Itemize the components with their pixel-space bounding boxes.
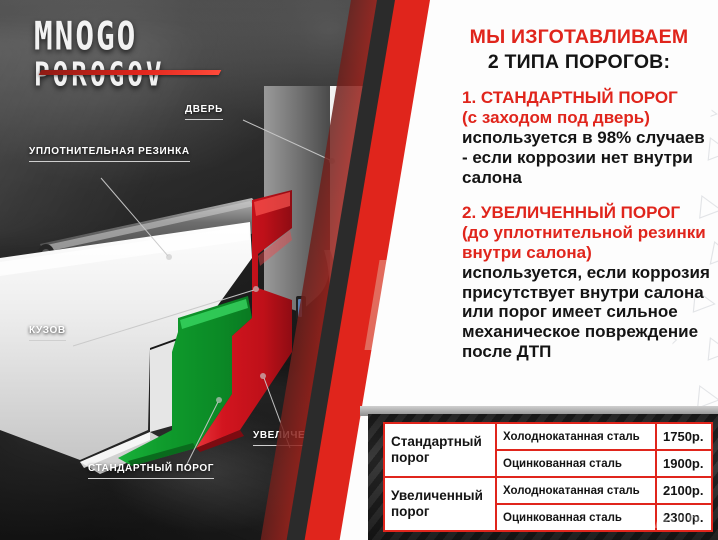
price-table: Стандартный порог Холоднокатанная сталь … <box>383 422 713 532</box>
price-value: 1900р. <box>656 450 712 477</box>
brand-logo-underline <box>39 70 222 75</box>
advertisement-image: ДВЕРЬ УПЛОТНИТЕЛЬНАЯ РЕЗИНКА КУЗОВ СТАНД… <box>0 0 718 540</box>
table-row: Стандартный порог Холоднокатанная сталь … <box>384 423 712 450</box>
price-type-increased: Увеличенный порог <box>384 477 496 531</box>
price-value: 1750р. <box>656 423 712 450</box>
headline-line1: МЫ ИЗГОТАВЛИВАЕМ <box>448 26 710 48</box>
brand-logo-line1: MNOGO <box>34 18 234 57</box>
price-material: Оцинкованная сталь <box>496 450 656 477</box>
price-material: Холоднокатанная сталь <box>496 477 656 504</box>
price-type-standard: Стандартный порог <box>384 423 496 477</box>
callout-label-rubber: УПЛОТНИТЕЛЬНАЯ РЕЗИНКА <box>29 146 190 162</box>
headline: МЫ ИЗГОТАВЛИВАЕМ 2 ТИПА ПОРОГОВ: <box>448 26 710 74</box>
brand-logo-line2: POROGOV <box>34 59 234 92</box>
info-block-1-subtitle: (с заходом под дверь) <box>462 108 714 128</box>
price-material: Холоднокатанная сталь <box>496 423 656 450</box>
price-value: 2300р. <box>656 504 712 531</box>
info-block-2-title: 2. УВЕЛИЧЕННЫЙ ПОРОГ <box>462 203 714 223</box>
info-block-1-body: используется в 98% случаев - если корроз… <box>462 128 714 188</box>
info-block-standard: 1. СТАНДАРТНЫЙ ПОРОГ (с заходом под двер… <box>462 88 714 187</box>
info-block-2-subtitle: (до уплотнительной резинки внутри салона… <box>462 223 714 263</box>
price-material: Оцинкованная сталь <box>496 504 656 531</box>
brand-logo: MNOGO POROGOV <box>34 18 234 85</box>
callout-label-body: КУЗОВ <box>29 325 66 341</box>
table-row: Увеличенный порог Холоднокатанная сталь … <box>384 477 712 504</box>
price-value: 2100р. <box>656 477 712 504</box>
info-block-increased: 2. УВЕЛИЧЕННЫЙ ПОРОГ (до уплотнительной … <box>462 203 714 362</box>
callout-label-standard: СТАНДАРТНЫЙ ПОРОГ <box>88 463 214 479</box>
info-block-1-title: 1. СТАНДАРТНЫЙ ПОРОГ <box>462 88 714 108</box>
callout-label-door: ДВЕРЬ <box>185 104 223 120</box>
info-block-2-body: используется, если коррозия присутствует… <box>462 263 714 362</box>
headline-line2: 2 ТИПА ПОРОГОВ: <box>448 51 710 73</box>
